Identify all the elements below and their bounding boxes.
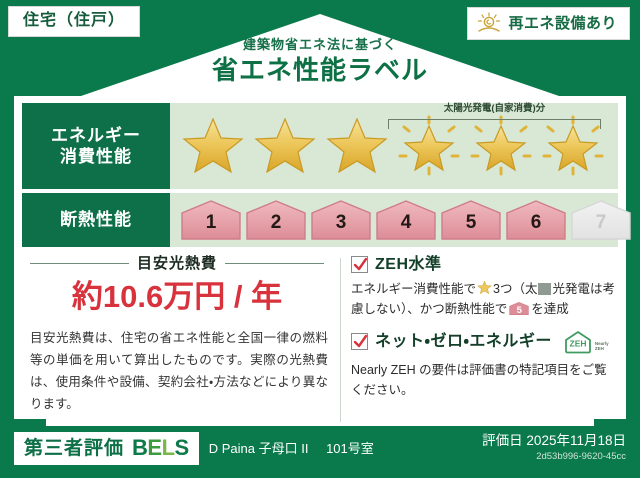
rule-left [30,263,129,265]
insulation-performance-label: 断熱性能 [22,193,170,247]
insulation-level-number: 2 [271,213,282,241]
insulation-level-5: 5 [440,199,502,241]
checkbox-net-zero-energy[interactable] [351,333,368,350]
rule-right [225,263,324,265]
star-rating [170,103,618,189]
claim-net-zero-body: Nearly ZEH の要件は評価書の特記項目をご覧ください。 [351,360,618,401]
energy-cost-heading-text: 目安光熱費 [137,256,217,271]
energy-label-line2: 消費性能 [60,146,132,167]
insulation-level-scale: 1 2 3 [170,199,632,241]
energy-performance-body: 太陽光発電(自家消費)分 [170,103,618,189]
column-divider [340,258,341,422]
label-panel: エネルギー 消費性能 太陽光発電(自家消費)分 [14,96,626,419]
evaluation-code: 2d53b996-9620-45cc [482,451,626,463]
claim-text-part1: エネルギー消費性能で [351,282,476,296]
insulation-level-7: 7 [570,199,632,241]
check-icon [353,257,368,272]
insulation-level-3: 3 [310,199,372,241]
claim-zeh-level-title: ZEH水準 [375,257,442,273]
inline-level-number: 5 [509,306,529,316]
redacted-character-mask [538,283,551,295]
energy-cost-value: 約10.6万円 / 年 [22,281,332,312]
checkbox-zeh-level[interactable] [351,256,368,273]
claim-zeh-level: ZEH水準 エネルギー消費性能で3つ（太光発電は考慮しない）、かつ断熱性能で5を… [351,256,618,320]
energy-label-line1: エネルギー [51,125,141,146]
renewable-energy-label: 再エネ設備あり [508,16,617,31]
insulation-level-number: 3 [336,213,347,241]
zeh-logo: ZEH Nearly ZEH [563,330,609,354]
star-filled [250,111,320,181]
insulation-level-number: 5 [466,213,477,241]
insulation-level-number: 1 [206,213,217,241]
claims-column: ZEH水準 エネルギー消費性能で3つ（太光発電は考慮しない）、かつ断熱性能で5を… [349,256,618,424]
property-identity: D Paina 子母口 II 101号室 [209,442,374,455]
insulation-level-4: 4 [375,199,437,241]
zeh-tiny-line2: ZEH [595,346,604,351]
inline-insulation-level-icon: 5 [509,301,529,316]
insulation-level-number: 7 [596,213,607,241]
insulation-level-number: 4 [401,213,412,241]
energy-label-card: 住宅（住戸） 再エネ設備あり 建築物省エネ法に基づく 省エネ性能ラベル エネルギ… [0,0,640,478]
solar-portion-caption: 太陽光発電(自家消費)分 [388,104,601,114]
energy-cost-column: 目安光熱費 約10.6万円 / 年 目安光熱費は、住宅の省エネ性能と全国一律の燃… [22,256,340,424]
energy-cost-heading: 目安光熱費 [22,256,332,271]
energy-performance-label: エネルギー 消費性能 [22,103,170,189]
property-name: D Paina 子母口 II [209,441,309,456]
claim-net-zero-head: ネット・ゼロ・エネルギー ZEH Nearly ZEH [351,330,618,354]
star-filled [178,111,248,181]
claim-zeh-level-body: エネルギー消費性能で3つ（太光発電は考慮しない）、かつ断熱性能で5を達成 [351,279,618,320]
renewable-energy-badge: 再エネ設備あり [467,7,630,40]
inline-star-icon [477,280,492,295]
star-filled [322,111,392,181]
bels-wordmark: BELS [132,437,189,459]
footer-meta: 評価日 2025年11月18日 2d53b996-9620-45cc [482,433,626,464]
insulation-level-number: 6 [531,213,542,241]
label-footer: 第三者評価 BELS D Paina 子母口 II 101号室 評価日 2025… [0,419,640,478]
insulation-level-1: 1 [180,199,242,241]
insulation-label-text: 断熱性能 [60,209,132,230]
claim-net-zero-title: ネット・ゼロ・エネルギー [375,334,552,350]
zeh-logo-tiny-text: Nearly ZEH [595,341,609,353]
claim-text-part3: を達成 [531,302,569,316]
property-room-number: 101号室 [326,441,374,456]
evaluation-date: 評価日 2025年11月18日 [482,433,626,449]
insulation-level-2: 2 [245,199,307,241]
energy-performance-row: エネルギー 消費性能 太陽光発電(自家消費)分 [22,103,618,189]
claim-text-stars: 3つ（太 [493,282,537,296]
lower-section: 目安光熱費 約10.6万円 / 年 目安光熱費は、住宅の省エネ性能と全国一律の燃… [22,256,618,424]
insulation-performance-row: 断熱性能 1 [22,193,618,247]
bels-certification-badge: 第三者評価 BELS [14,432,199,465]
heading-title: 省エネ性能ラベル [0,56,640,85]
check-icon [353,334,368,349]
insulation-level-6: 6 [505,199,567,241]
third-party-eval-label: 第三者評価 [24,439,124,458]
zeh-house-icon: ZEH [563,330,593,354]
housing-type-badge: 住宅（住戸） [8,6,140,37]
claim-zeh-level-head: ZEH水準 [351,256,618,273]
heading-subtitle: 建築物省エネ法に基づく [0,38,640,52]
energy-cost-note: 目安光熱費は、住宅の省エネ性能と全国一律の燃料等の単価を用いて算出したものです。… [22,328,332,416]
claim-net-zero-energy: ネット・ゼロ・エネルギー ZEH Nearly ZEH [351,330,618,401]
label-heading: 建築物省エネ法に基づく 省エネ性能ラベル [0,38,640,85]
insulation-performance-body: 1 2 3 [170,193,632,247]
svg-text:ZEH: ZEH [569,338,586,348]
solar-portion-bracket [388,119,601,129]
sun-icon [476,12,502,34]
